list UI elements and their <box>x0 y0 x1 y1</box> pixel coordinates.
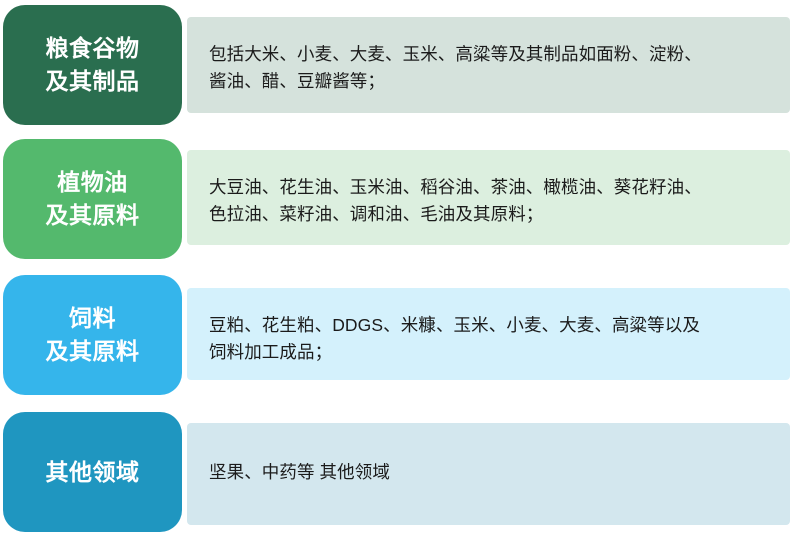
category-row-feed: 饲料 及其原料 豆粕、花生粕、DDGS、米糠、玉米、小麦、大麦、高粱等以及 饲料… <box>0 270 800 404</box>
description-panel-vegetable-oil: 大豆油、花生油、玉米油、稻谷油、茶油、橄榄油、葵花籽油、 色拉油、菜籽油、调和油… <box>187 150 790 245</box>
category-label-block-vegetable-oil[interactable]: 植物油 及其原料 <box>3 139 182 259</box>
category-label-text-grain: 粮食谷物 及其制品 <box>46 32 140 97</box>
category-label-text-other-fields: 其他领域 <box>46 456 140 489</box>
description-panel-feed: 豆粕、花生粕、DDGS、米糠、玉米、小麦、大麦、高粱等以及 饲料加工成品； <box>187 288 790 380</box>
category-label-block-other-fields[interactable]: 其他领域 <box>3 412 182 532</box>
category-row-grain: 粮食谷物 及其制品 包括大米、小麦、大麦、玉米、高粱等及其制品如面粉、淀粉、 酱… <box>0 0 800 134</box>
category-label-block-grain[interactable]: 粮食谷物 及其制品 <box>3 5 182 125</box>
category-row-other-fields: 其他领域 坚果、中药等 其他领域 <box>0 404 800 538</box>
category-diagram: 粮食谷物 及其制品 包括大米、小麦、大麦、玉米、高粱等及其制品如面粉、淀粉、 酱… <box>0 0 800 538</box>
description-text-feed: 豆粕、花生粕、DDGS、米糠、玉米、小麦、大麦、高粱等以及 饲料加工成品； <box>209 315 700 362</box>
category-label-block-feed[interactable]: 饲料 及其原料 <box>3 275 182 395</box>
category-row-vegetable-oil: 植物油 及其原料 大豆油、花生油、玉米油、稻谷油、茶油、橄榄油、葵花籽油、 色拉… <box>0 134 800 268</box>
description-text-grain: 包括大米、小麦、大麦、玉米、高粱等及其制品如面粉、淀粉、 酱油、醋、豆瓣酱等； <box>209 44 702 91</box>
description-panel-other-fields: 坚果、中药等 其他领域 <box>187 423 790 525</box>
category-label-text-feed: 饲料 及其原料 <box>46 302 140 367</box>
description-text-vegetable-oil: 大豆油、花生油、玉米油、稻谷油、茶油、橄榄油、葵花籽油、 色拉油、菜籽油、调和油… <box>209 177 702 224</box>
category-label-text-vegetable-oil: 植物油 及其原料 <box>46 166 140 231</box>
description-text-other-fields: 坚果、中药等 其他领域 <box>209 462 390 482</box>
description-panel-grain: 包括大米、小麦、大麦、玉米、高粱等及其制品如面粉、淀粉、 酱油、醋、豆瓣酱等； <box>187 17 790 113</box>
